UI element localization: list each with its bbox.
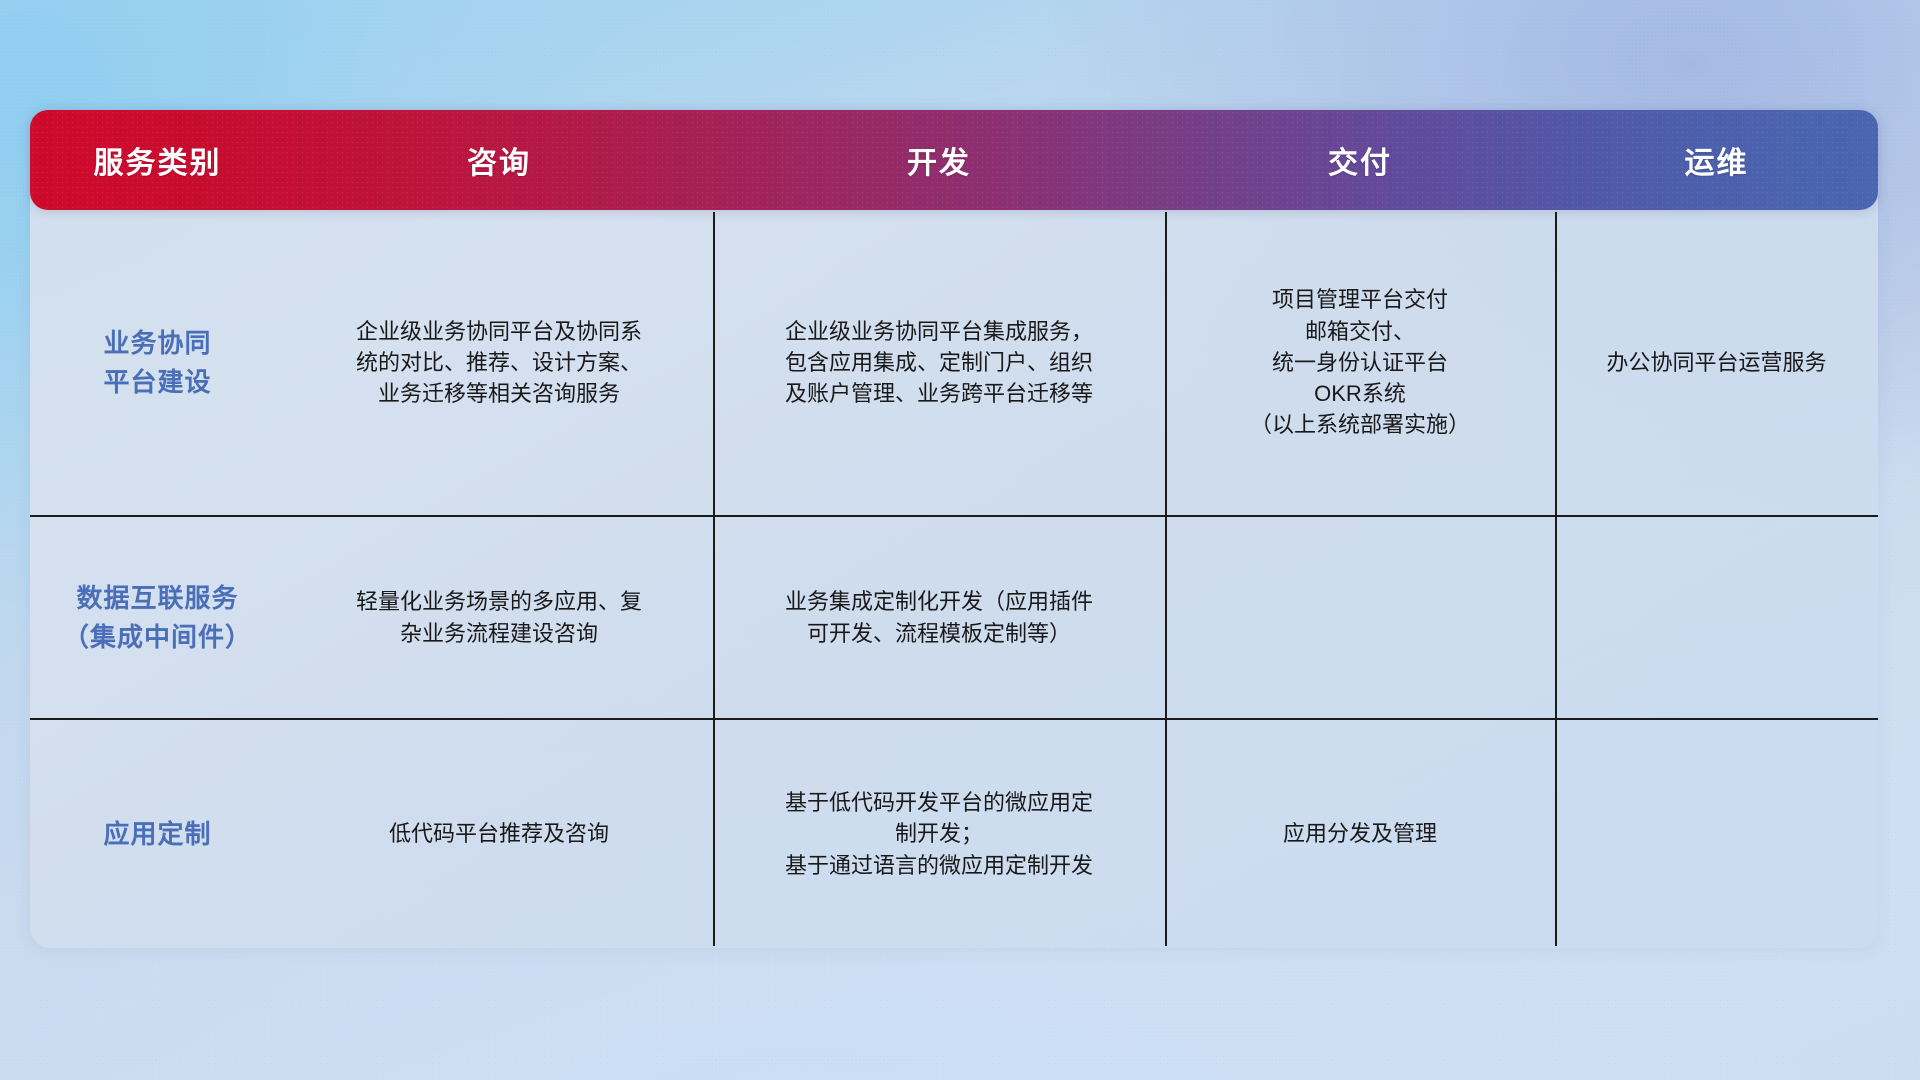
cell-consulting-row3: 低代码平台推荐及咨询 (285, 720, 713, 948)
cell-operations-row2 (1555, 517, 1878, 718)
table-row: 应用定制 低代码平台推荐及咨询 基于低代码开发平台的微应用定 制开发； 基于通过… (30, 718, 1878, 948)
row-label-business-collaboration: 业务协同 平台建设 (30, 210, 285, 515)
cell-development-row2: 业务集成定制化开发（应用插件 可开发、流程模板定制等） (713, 517, 1165, 718)
cell-consulting-row2: 轻量化业务场景的多应用、复 杂业务流程建设咨询 (285, 517, 713, 718)
cell-delivery-row3: 应用分发及管理 (1165, 720, 1555, 948)
row-label-app-customization: 应用定制 (30, 720, 285, 948)
column-header-category: 服务类别 (30, 138, 285, 182)
cell-development-row1: 企业级业务协同平台集成服务， 包含应用集成、定制门户、组织 及账户管理、业务跨平… (713, 210, 1165, 515)
row-label-data-integration: 数据互联服务 （集成中间件） (30, 517, 285, 718)
cell-delivery-row1: 项目管理平台交付 邮箱交付、 统一身份认证平台 OKR系统 （以上系统部署实施） (1165, 210, 1555, 515)
cell-consulting-row1: 企业级业务协同平台及协同系 统的对比、推荐、设计方案、 业务迁移等相关咨询服务 (285, 210, 713, 515)
cell-operations-row1: 办公协同平台运营服务 (1555, 210, 1878, 515)
table-row: 业务协同 平台建设 企业级业务协同平台及协同系 统的对比、推荐、设计方案、 业务… (30, 210, 1878, 515)
column-header-development: 开发 (713, 138, 1165, 182)
column-header-delivery: 交付 (1165, 138, 1555, 182)
cell-operations-row3 (1555, 720, 1878, 948)
table-header-row: 服务类别 咨询 开发 交付 运维 (30, 110, 1878, 210)
cell-development-row3: 基于低代码开发平台的微应用定 制开发； 基于通过语言的微应用定制开发 (713, 720, 1165, 948)
table-row: 数据互联服务 （集成中间件） 轻量化业务场景的多应用、复 杂业务流程建设咨询 业… (30, 515, 1878, 718)
column-header-operations: 运维 (1555, 138, 1878, 182)
column-header-consulting: 咨询 (285, 138, 713, 182)
table-body: 业务协同 平台建设 企业级业务协同平台及协同系 统的对比、推荐、设计方案、 业务… (30, 210, 1878, 948)
cell-delivery-row2 (1165, 517, 1555, 718)
